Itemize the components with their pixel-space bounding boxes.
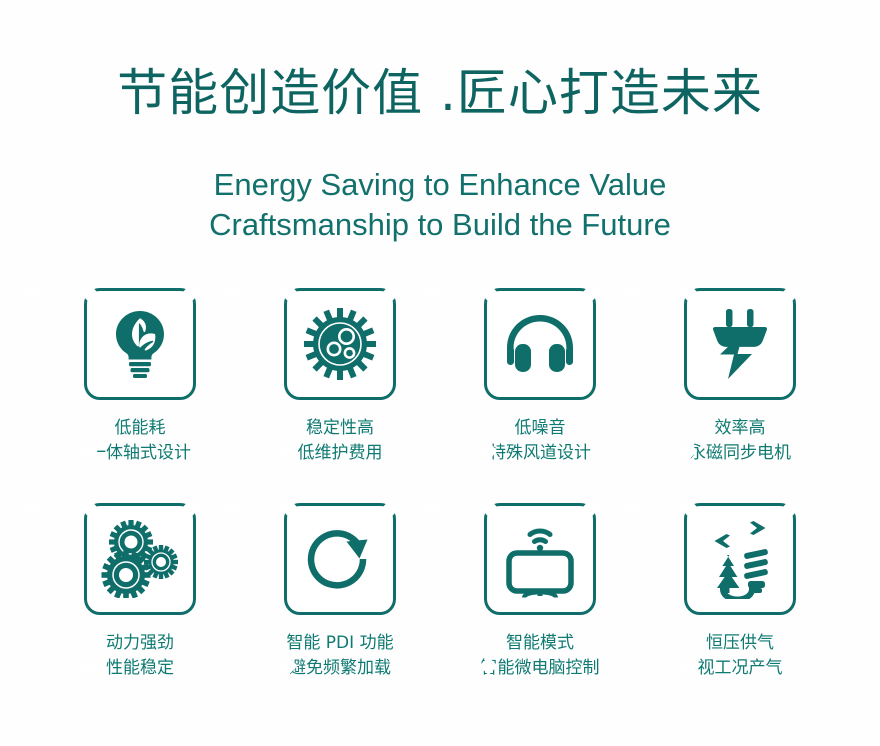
- caption-line-1: 稳定性高: [298, 416, 383, 441]
- feature-item-efficiency: 效率高 永磁同步电机: [640, 288, 840, 503]
- page-subtitle-english: Energy Saving to Enhance Value Craftsman…: [0, 165, 880, 245]
- icon-box: [84, 503, 196, 615]
- eco-lightbulb-icon: [108, 309, 172, 379]
- caption-line-2: 视工况产气: [698, 656, 783, 681]
- headphones-icon: [503, 313, 577, 375]
- caption-line-1: 动力强劲: [106, 631, 174, 656]
- caption-line-1: 效率高: [689, 416, 791, 441]
- power-plug-bolt-icon: [707, 307, 773, 381]
- caption-line-1: 智能 PDI 功能: [286, 631, 393, 656]
- monitor-wifi-icon: [502, 520, 578, 598]
- feature-highlight-poster: · · · · · · · · · · · 节能创造价值 .匠心打造未来 Ene…: [0, 0, 880, 746]
- feature-item-smart-mode: 智能模式 智能微电脑控制: [440, 503, 640, 718]
- caption-line-1: 智能模式: [481, 631, 600, 656]
- feature-caption: 恒压供气 视工况产气: [698, 631, 783, 681]
- feature-item-stability: 稳定性高 低维护费用: [240, 288, 440, 503]
- icon-box: [284, 503, 396, 615]
- feature-caption: 稳定性高 低维护费用: [298, 416, 383, 466]
- feature-caption: 智能模式 智能微电脑控制: [481, 631, 600, 681]
- subtitle-line-1: Energy Saving to Enhance Value: [0, 165, 880, 205]
- feature-caption: 低噪音 特殊风道设计: [489, 416, 591, 466]
- feature-item-low-noise: 低噪音 特殊风道设计: [440, 288, 640, 503]
- caption-line-2: 避免频繁加载: [286, 656, 393, 681]
- circular-arrow-icon: [305, 524, 375, 594]
- caption-line-2: 一体轴式设计: [89, 441, 191, 466]
- feature-caption: 智能 PDI 功能 避免频繁加载: [286, 631, 393, 681]
- three-gears-icon: [101, 520, 179, 598]
- feature-caption: 低能耗 一体轴式设计: [89, 416, 191, 466]
- caption-line-2: 低维护费用: [298, 441, 383, 466]
- feature-caption: 动力强劲 性能稳定: [106, 631, 174, 681]
- caption-line-2: 永磁同步电机: [689, 441, 791, 466]
- caption-line-2: 智能微电脑控制: [481, 656, 600, 681]
- icon-box: [284, 288, 396, 400]
- gear-cluster-icon: [304, 308, 376, 380]
- icon-box: [684, 288, 796, 400]
- feature-item-pdi: 智能 PDI 功能 避免频繁加载: [240, 503, 440, 718]
- page-title-chinese: 节能创造价值 .匠心打造未来: [0, 62, 880, 124]
- tree-cfl-exchange-icon: [702, 519, 778, 599]
- caption-line-1: 低能耗: [89, 416, 191, 441]
- caption-line-2: 特殊风道设计: [489, 441, 591, 466]
- caption-line-1: 低噪音: [489, 416, 591, 441]
- icon-box: [684, 503, 796, 615]
- icon-box: [484, 288, 596, 400]
- feature-item-low-energy: 低能耗 一体轴式设计: [40, 288, 240, 503]
- icon-box: [84, 288, 196, 400]
- feature-caption: 效率高 永磁同步电机: [689, 416, 791, 466]
- icon-box: [484, 503, 596, 615]
- feature-item-power: 动力强劲 性能稳定: [40, 503, 240, 718]
- feature-grid: 低能耗 一体轴式设计: [40, 288, 840, 718]
- feature-item-constant-pressure: 恒压供气 视工况产气: [640, 503, 840, 718]
- subtitle-line-2: Craftsmanship to Build the Future: [0, 205, 880, 245]
- background-watermark: · · · · · · · · · · ·: [0, 8, 880, 32]
- caption-line-1: 恒压供气: [698, 631, 783, 656]
- caption-line-2: 性能稳定: [106, 656, 174, 681]
